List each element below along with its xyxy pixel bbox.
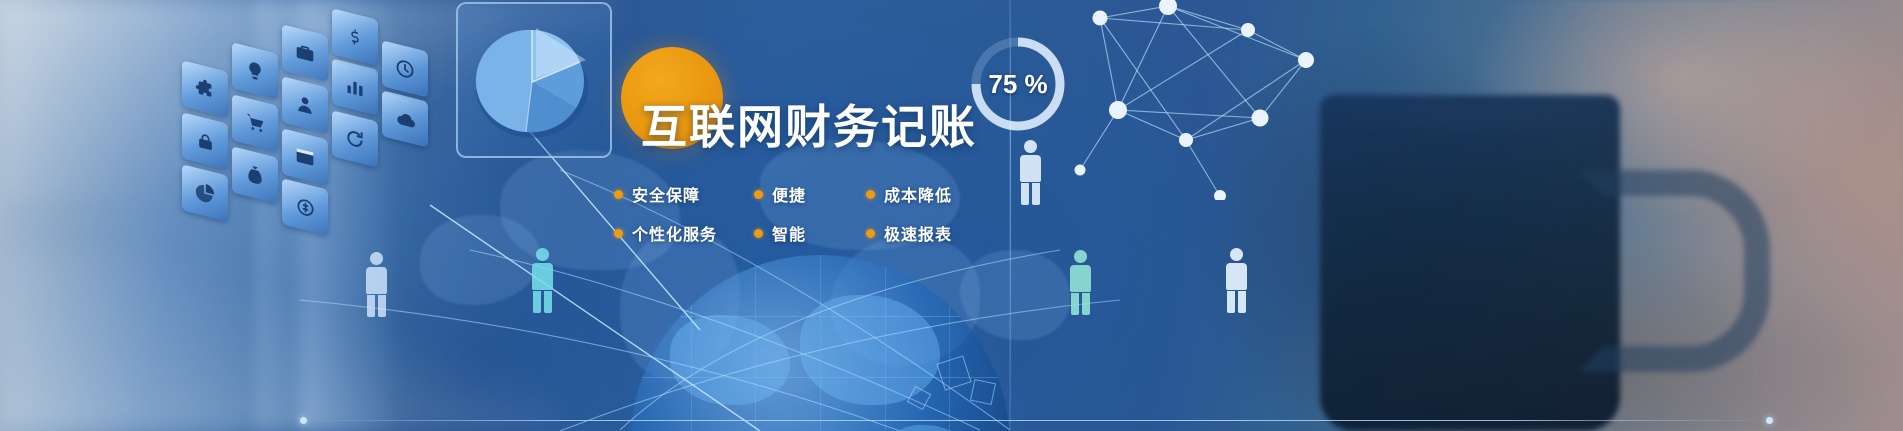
feature-list: 安全保障 便捷 成本降低 个性化服务 智能 极速报表	[614, 182, 986, 245]
coin-icon	[282, 178, 328, 235]
feature-label: 个性化服务	[632, 221, 717, 245]
briefcase-icon	[282, 24, 328, 81]
bullet-dot-icon	[614, 229, 623, 238]
cart-icon	[232, 94, 278, 151]
money-bag-icon	[232, 146, 278, 203]
feature-item: 极速报表	[866, 221, 986, 245]
feature-item: 个性化服务	[614, 221, 754, 245]
dollar-icon	[332, 8, 378, 65]
refresh-icon	[332, 110, 378, 167]
feature-label: 成本降低	[884, 182, 952, 206]
bullet-dot-icon	[866, 229, 875, 238]
progress-value: 75 %	[968, 34, 1068, 134]
marketing-banner: 75 % 互联网财务记账 安全保障 便捷	[0, 0, 1903, 431]
bottom-divider-line	[300, 420, 1770, 421]
feature-label: 安全保障	[632, 182, 700, 206]
person-silhouette	[524, 248, 560, 313]
bar-chart-icon	[332, 58, 378, 115]
decorative-squares	[900, 341, 1030, 421]
bullet-dot-icon	[866, 190, 875, 199]
bottom-line-dot	[300, 417, 307, 424]
feature-item: 安全保障	[614, 182, 754, 206]
feature-label: 智能	[772, 221, 806, 245]
bullet-dot-icon	[614, 190, 623, 199]
browser-icon	[282, 128, 328, 185]
pie-chart-panel	[456, 2, 612, 158]
feature-item: 成本降低	[866, 182, 986, 206]
feature-label: 极速报表	[884, 221, 952, 245]
page-title: 互联网财务记账	[641, 104, 977, 150]
person-silhouette	[1062, 250, 1098, 315]
progress-badge: 75 %	[968, 34, 1068, 134]
feature-item: 便捷	[754, 182, 866, 206]
clock-icon	[382, 40, 428, 97]
person-silhouette	[358, 252, 394, 317]
bullet-dot-icon	[754, 190, 763, 199]
person-silhouette	[1012, 140, 1048, 205]
cloud-icon	[382, 90, 428, 147]
feature-label: 便捷	[772, 182, 806, 206]
pie-chart	[458, 4, 606, 152]
lightbulb-icon	[232, 42, 278, 99]
icon-tile-grid	[170, 8, 470, 228]
lock-icon	[182, 112, 228, 169]
pie-chart-icon	[182, 164, 228, 221]
feature-item: 智能	[754, 221, 866, 245]
person-silhouette	[1218, 248, 1254, 313]
bottom-line-dot	[1766, 417, 1773, 424]
network-nodes	[1060, 0, 1330, 200]
user-icon	[282, 76, 328, 133]
bullet-dot-icon	[754, 229, 763, 238]
puzzle-icon	[182, 60, 228, 117]
